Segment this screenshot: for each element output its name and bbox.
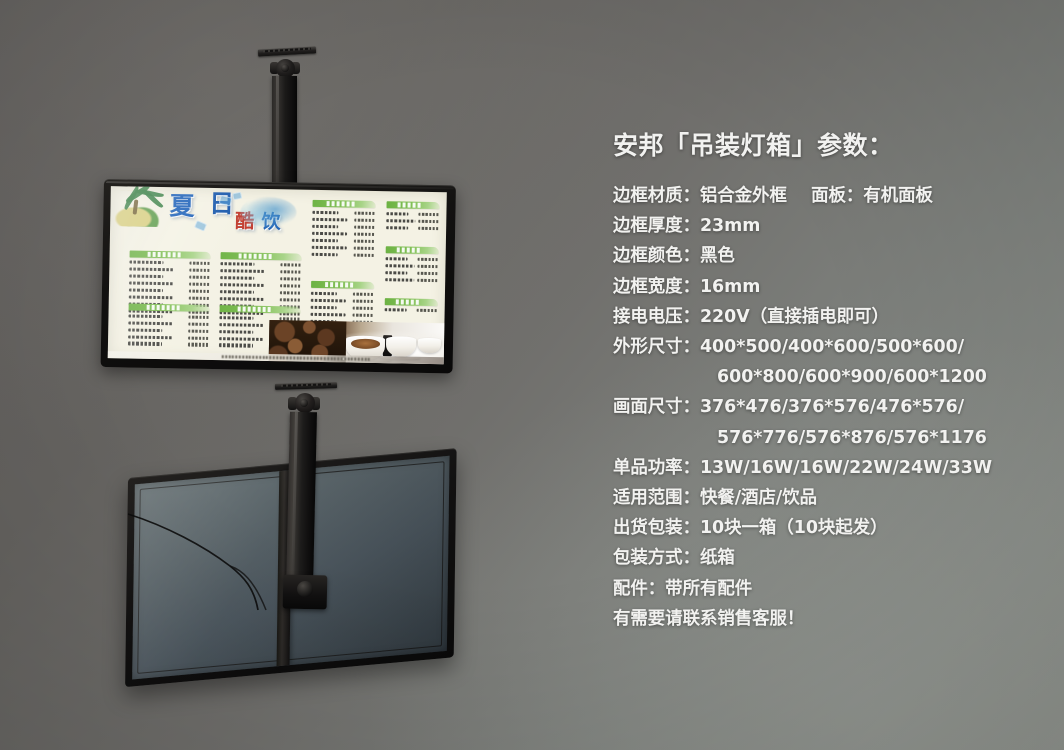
spec-line-10: 单品功率：13W/16W/16W/22W/24W/33W — [613, 453, 1055, 483]
spec-line-9: 576*776/576*876/576*1176 — [613, 423, 1055, 453]
spec-line-11: 适用范围：快餐/酒店/饮品 — [613, 483, 1055, 513]
product-photo-stage: 夏 日 酷 饮 — [0, 0, 1064, 750]
spec-line-5: 接电电压：220V（直接插电即可） — [613, 302, 1055, 332]
spec-lines: 边框材质：铝合金外框 面板：有机面板边框厚度：23mm边框颜色：黑色边框宽度：1… — [613, 181, 1055, 634]
spec-line-13: 包装方式：纸箱 — [613, 543, 1055, 573]
spec-line-15: 有需要请联系销售客服！ — [613, 604, 1055, 634]
spec-line-2: 边框厚度：23mm — [613, 211, 1055, 241]
spec-line-4: 边框宽度：16mm — [613, 272, 1055, 302]
spec-line-7: 600*800/600*900/600*1200 — [613, 362, 1055, 392]
spec-line-1: 边框材质：铝合金外框 面板：有机面板 — [613, 181, 1055, 211]
spec-line-8: 画面尺寸：376*476/376*576/476*576/ — [613, 392, 1055, 422]
spec-line-6: 外形尺寸：400*500/400*600/500*600/ — [613, 332, 1055, 362]
spec-line-14: 配件：带所有配件 — [613, 574, 1055, 604]
specification-block: 安邦「吊装灯箱」参数： 边框材质：铝合金外框 面板：有机面板边框厚度：23mm边… — [613, 126, 1055, 634]
spec-line-3: 边框颜色：黑色 — [613, 241, 1055, 271]
spec-title: 安邦「吊装灯箱」参数： — [613, 126, 1055, 162]
spec-line-12: 出货包装：10块一箱（10块起发） — [613, 513, 1055, 543]
